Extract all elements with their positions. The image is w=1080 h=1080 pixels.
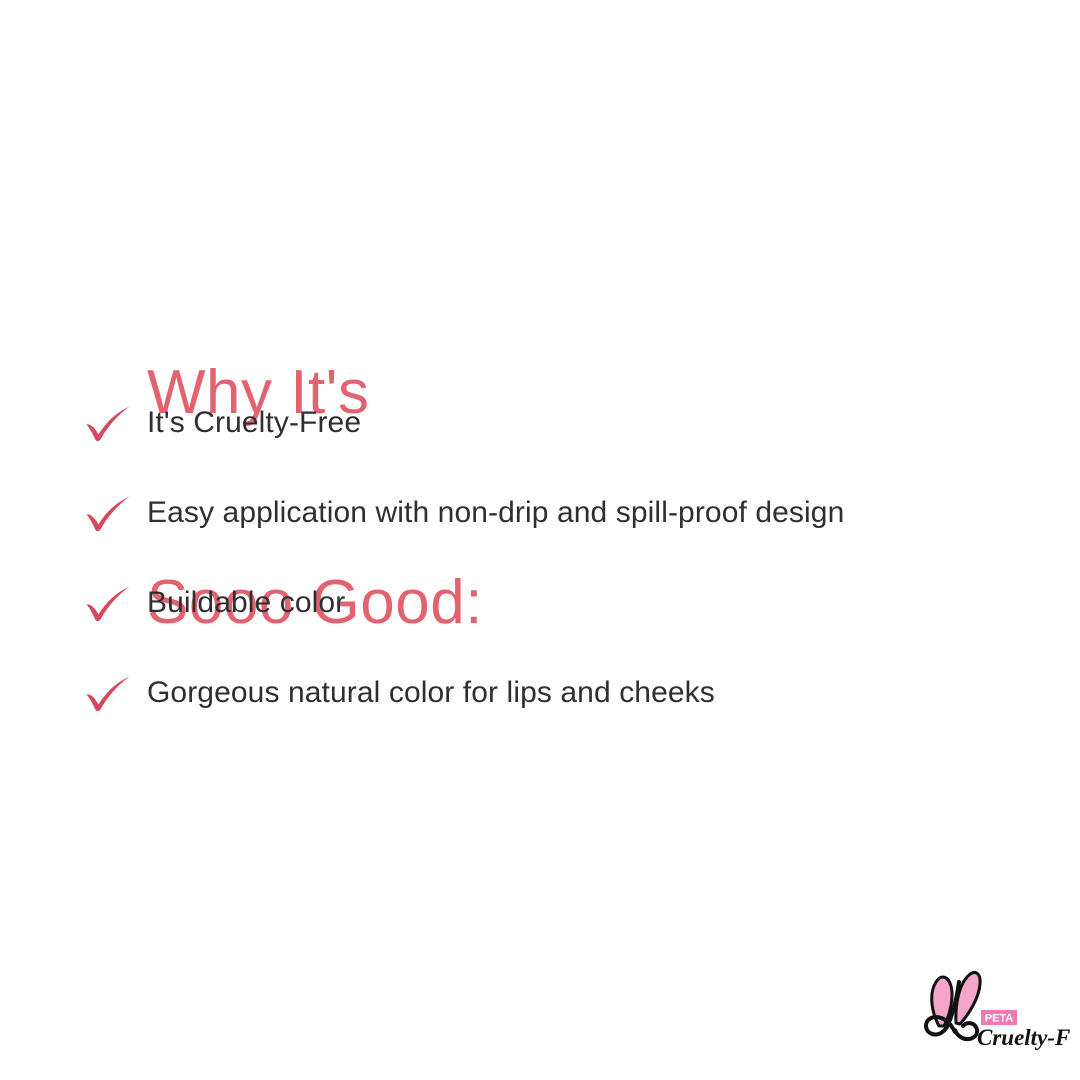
peta-badge-label: PETA xyxy=(985,1013,1014,1025)
list-item: It's Cruelty-Free xyxy=(0,378,1080,468)
list-item-label: Gorgeous natural color for lips and chee… xyxy=(147,675,715,711)
check-icon xyxy=(84,583,132,623)
peta-bunny-icon xyxy=(926,973,980,1040)
list-item-label: Easy application with non-drip and spill… xyxy=(147,495,844,531)
peta-wordmark: Cruelty-Free xyxy=(977,1025,1070,1050)
check-icon xyxy=(84,673,132,713)
check-icon xyxy=(84,403,132,443)
list-item-label: Buildable color xyxy=(147,585,345,621)
list-item: Easy application with non-drip and spill… xyxy=(0,468,1080,558)
peta-badge: PETA xyxy=(981,1010,1017,1025)
peta-cruelty-free-logo: PETA Cruelty-Free xyxy=(915,963,1070,1063)
benefits-list: It's Cruelty-Free Easy application with … xyxy=(0,378,1080,738)
slide-canvas: Why It's Sooo Good: It's Cruelty-Free Ea… xyxy=(0,0,1080,1080)
list-item: Buildable color xyxy=(0,558,1080,648)
list-item-label: It's Cruelty-Free xyxy=(147,405,361,441)
check-icon xyxy=(84,493,132,533)
list-item: Gorgeous natural color for lips and chee… xyxy=(0,648,1080,738)
